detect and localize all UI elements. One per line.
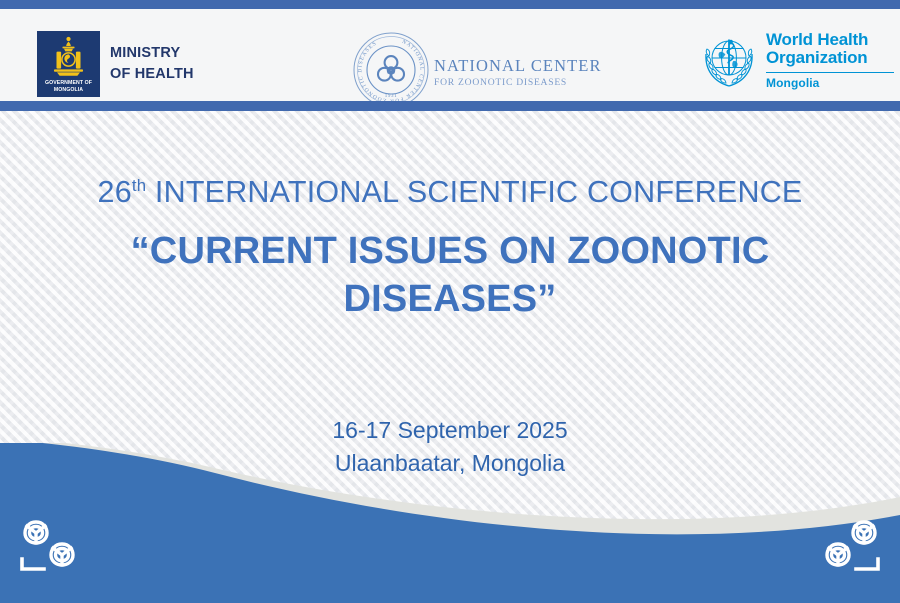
ministry-name-line-1: MINISTRY [110,43,194,64]
emblem-caption-line-1: GOVERNMENT OF [37,80,100,87]
bottom-wave-divider [0,443,900,603]
nczd-subtitle: FOR ZOONOTIC DISEASES [434,78,602,88]
emblem-caption: GOVERNMENT OF MONGOLIA [37,80,100,94]
conference-title-slide: GOVERNMENT OF MONGOLIA MINISTRY OF HEALT… [0,0,900,603]
mongolian-ulzii-knot-icon-left [14,515,92,577]
conference-headline: 26th INTERNATIONAL SCIENTIFIC CONFERENCE… [0,176,900,324]
ministry-of-health-logo: GOVERNMENT OF MONGOLIA MINISTRY OF HEALT… [37,31,194,97]
who-organization-name: World Health Organization [766,31,894,68]
ministry-of-health-name: MINISTRY OF HEALTH [110,43,194,84]
national-center-zoonotic-diseases-logo: NATIONAL CENTER FOR ZOONOTIC DISEASES 19… [352,31,602,109]
emblem-caption-line-2: MONGOLIA [37,87,100,94]
who-underline-rule [766,72,894,74]
svg-text:1931: 1931 [385,94,397,99]
header-separator-bar [0,101,900,111]
conference-label: INTERNATIONAL SCIENTIFIC CONFERENCE [146,175,802,209]
conference-theme-line-1: “CURRENT ISSUES ON ZOONOTIC [0,227,900,276]
who-name-line-1: World Health [766,31,894,49]
header-logo-band: GOVERNMENT OF MONGOLIA MINISTRY OF HEALT… [0,9,900,101]
nczd-title: NATIONAL CENTER [434,58,602,75]
edition-ordinal-suffix: th [132,176,146,195]
biohazard-seal-icon: NATIONAL CENTER FOR ZOONOTIC DISEASES 19… [352,31,430,109]
ministry-name-line-2: OF HEALTH [110,64,194,85]
top-accent-bar [0,0,900,9]
who-name-line-2: Organization [766,49,894,67]
mongolian-ulzii-knot-icon-right [808,515,886,577]
who-mongolia-logo: World Health Organization Mongolia [700,29,894,90]
conference-theme: “CURRENT ISSUES ON ZOONOTIC DISEASES” [0,227,900,324]
conference-theme-line-2: DISEASES” [0,275,900,324]
edition-number: 26 [98,175,132,209]
who-globe-asclepius-icon [700,32,758,90]
mongolia-soyombo-emblem-icon: GOVERNMENT OF MONGOLIA [37,31,100,97]
conference-edition-line: 26th INTERNATIONAL SCIENTIFIC CONFERENCE [0,176,900,210]
event-date: 16-17 September 2025 [0,414,900,447]
who-country-label: Mongolia [766,76,894,90]
